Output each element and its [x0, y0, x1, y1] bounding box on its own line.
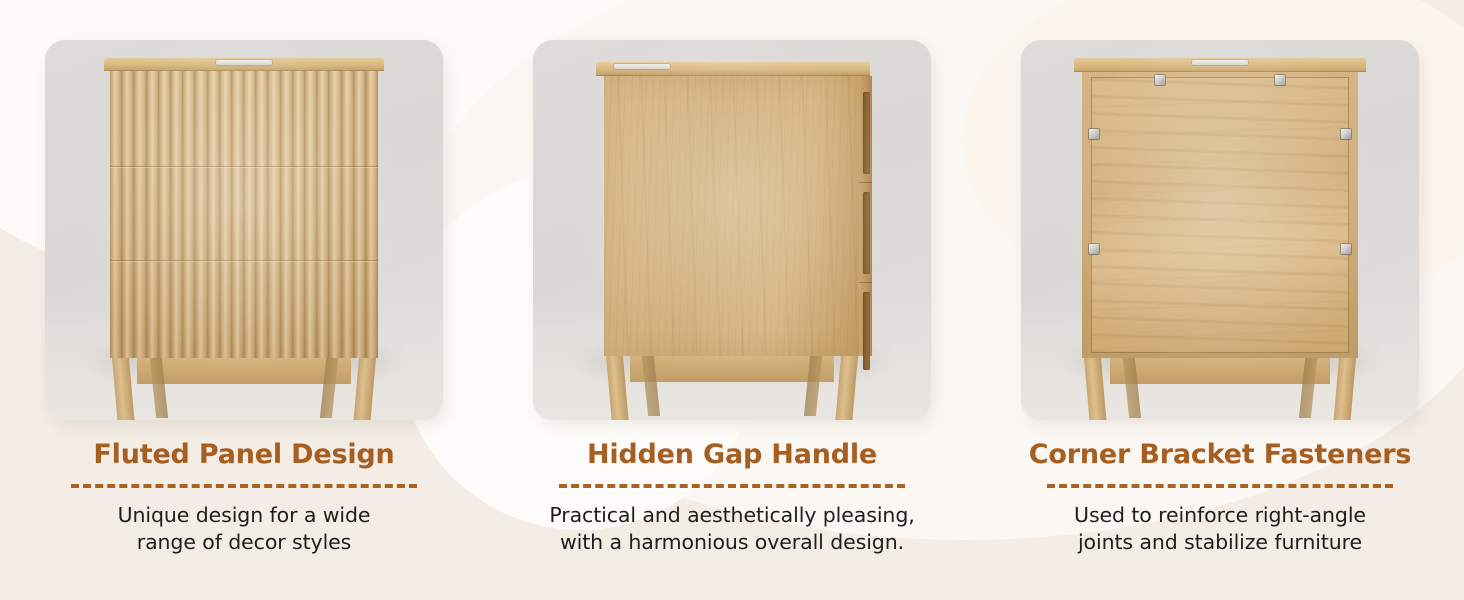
feature-caption-3: Corner Bracket Fasteners Used to reinfor…	[976, 438, 1464, 556]
card-vignette	[533, 40, 931, 420]
feature-column-fluted-panel-design: Fluted Panel Design Unique design for a …	[0, 0, 488, 600]
subtext-line: range of decor styles	[0, 529, 488, 556]
feature-column-corner-bracket-fasteners: Corner Bracket Fasteners Used to reinfor…	[976, 0, 1464, 600]
dashed-divider	[71, 484, 417, 488]
subtext-line: Practical and aesthetically pleasing,	[488, 502, 976, 529]
subtext-line: joints and stabilize furniture	[976, 529, 1464, 556]
dashed-divider	[559, 484, 905, 488]
feature-heading: Hidden Gap Handle	[488, 438, 976, 472]
feature-subtext: Used to reinforce right-angle joints and…	[976, 502, 1464, 556]
subtext-line: Used to reinforce right-angle	[976, 502, 1464, 529]
feature-columns: Fluted Panel Design Unique design for a …	[0, 0, 1464, 600]
card-vignette	[45, 40, 443, 420]
feature-subtext: Practical and aesthetically pleasing, wi…	[488, 502, 976, 556]
dashed-divider	[1047, 484, 1393, 488]
feature-heading: Corner Bracket Fasteners	[976, 438, 1464, 472]
feature-subtext: Unique design for a wide range of decor …	[0, 502, 488, 556]
product-image-card-1	[45, 40, 443, 420]
product-image-card-2	[533, 40, 931, 420]
feature-caption-1: Fluted Panel Design Unique design for a …	[0, 438, 488, 556]
card-vignette	[1021, 40, 1419, 420]
product-image-card-3	[1021, 40, 1419, 420]
subtext-line: Unique design for a wide	[0, 502, 488, 529]
subtext-line: with a harmonious overall design.	[488, 529, 976, 556]
feature-column-hidden-gap-handle: Hidden Gap Handle Practical and aestheti…	[488, 0, 976, 600]
feature-heading: Fluted Panel Design	[0, 438, 488, 472]
feature-caption-2: Hidden Gap Handle Practical and aestheti…	[488, 438, 976, 556]
